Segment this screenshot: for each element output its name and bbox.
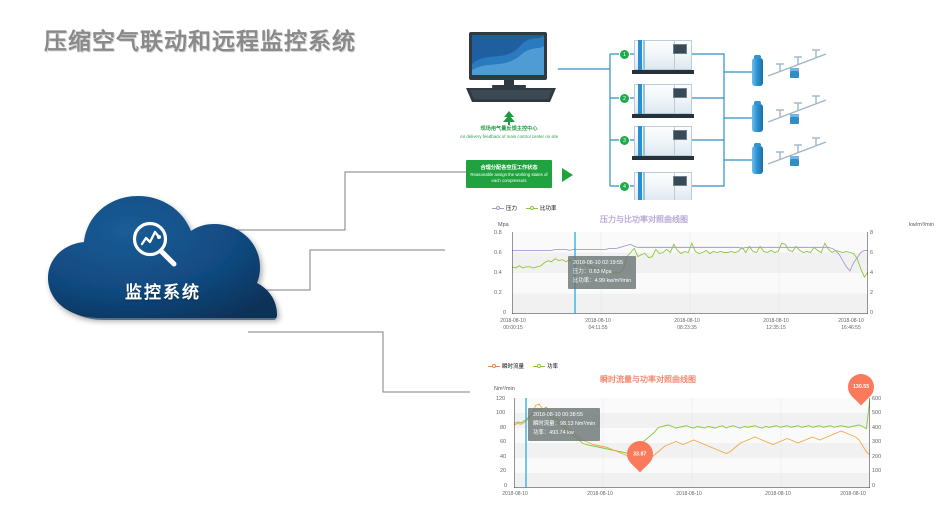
chart2-ytick: 80 [500,425,506,431]
xtick-time: 00:00:15 [490,325,536,332]
xtick-date: 2018-08-10 [577,491,623,498]
tooltip-timestamp: 2018-08-10 00:38:55 [533,411,595,420]
chart2-y2tick: 600 [872,396,881,402]
tooltip-row: 功率：493.74 kw [533,429,595,438]
magnifier-chart-icon [126,216,184,274]
chart1-y-unit: Mpa [498,222,509,228]
xtick-date: 2018-08-10 [575,318,621,325]
chart1-y2tick: 2 [870,290,873,296]
chart2-xtick: 2018-08-10 [492,491,538,498]
chart2-y2tick: 0 [872,483,875,489]
slide-root: 压缩空气联动和远程监控系统 [0,0,945,529]
air-tank [752,58,763,86]
chart1-plot[interactable] [512,232,868,314]
distribution-line [764,90,844,138]
xtick-date: 2018-08-10 [492,491,538,498]
legend-item-flow[interactable]: 瞬时流量 [488,362,524,370]
xtick-date: 2018-08-10 [830,491,876,498]
flow-power-chart[interactable]: 瞬时流量 功率 瞬时流量与功率对照曲线图 Nm³/min 120 100 80 … [470,358,940,529]
pressure-power-chart[interactable]: 压力 比功率 压力与比功率对照曲线图 Mpa kw/m³/min 0.8 0.6… [470,200,940,335]
air-tank [752,146,763,174]
compressor-unit [634,40,692,70]
legend-label: 比功率 [540,204,557,212]
status-node-3: 3 [620,136,629,145]
legend-marker [526,206,538,211]
compressor-unit [634,84,692,114]
chart1-xtick: 2018-08-10 00:00:15 [490,318,536,332]
xtick-time: 08:23:35 [664,325,710,332]
chart1-tooltip: 2018-08-10 02:19:55 压力：0.63 Mpa 比功率：4.99… [568,256,636,289]
compressor-unit [634,126,692,156]
chart2-xtick: 2018-08-10 [830,491,876,498]
status-node-1: 1 [620,50,629,59]
chart2-y2tick: 300 [872,439,881,445]
chart1-xtick: 2018-08-10 08:23:35 [664,318,710,332]
legend-marker [533,364,545,369]
chart1-ytick: 0.2 [494,290,502,296]
air-tank [752,104,763,132]
monitoring-cloud[interactable]: 监控系统 [38,190,288,330]
xtick-date: 2018-08-10 [664,318,710,325]
legend-label: 瞬时流量 [502,362,524,370]
xtick-time: 04:11:55 [575,325,621,332]
chart1-legend: 压力 比功率 [492,204,557,212]
distribution-line [764,132,844,180]
legend-item-power[interactable]: 功率 [533,362,558,370]
chart1-title: 压力与比功率对照曲线图 [600,214,688,225]
chart1-ytick: 0 [503,310,506,316]
xtick-date: 2018-08-10 [753,318,799,325]
legend-item-specific-power[interactable]: 比功率 [526,204,557,212]
chart2-xtick: 2018-08-10 [666,491,712,498]
chart2-y2tick: 400 [872,425,881,431]
chart1-y2tick: 4 [870,270,873,276]
legend-item-pressure[interactable]: 压力 [492,204,517,212]
chart2-y-unit: Nm³/min [494,386,515,392]
chart2-title: 瞬时流量与功率对照曲线图 [600,374,696,385]
chart2-y2tick: 100 [872,468,881,474]
tooltip-row: 压力：0.63 Mpa [573,268,631,277]
chart1-ytick: 0.6 [494,250,502,256]
chart1-y2tick: 8 [870,230,873,236]
legend-marker [488,364,500,369]
chart2-y2tick: 200 [872,454,881,460]
chart1-ytick: 0.4 [494,270,502,276]
chart2-legend: 瞬时流量 功率 [488,362,558,370]
tooltip-row: 比功率：4.99 kw/m³/min [573,277,631,286]
chart2-xtick: 2018-08-10 [577,491,623,498]
legend-label: 压力 [506,204,517,212]
legend-marker [492,206,504,211]
distribution-line [764,44,844,92]
xtick-date: 2018-08-10 [828,318,874,325]
chart2-y2tick: 500 [872,410,881,416]
chart2-xtick: 2018-08-10 [755,491,801,498]
chart2-ytick: 0 [504,483,507,489]
xtick-time: 16:46:55 [828,325,874,332]
chart2-ytick: 40 [500,454,506,460]
chart1-xtick: 2018-08-10 04:11:55 [575,318,621,332]
xtick-time: 12:35:15 [753,325,799,332]
tooltip-row: 瞬时流量：98.13 Nm³/min [533,420,595,429]
chart2-ytick: 120 [496,396,505,402]
chart1-xtick: 2018-08-10 16:46:55 [828,318,874,332]
chart2-ytick: 100 [496,410,505,416]
compressor-unit [634,172,692,202]
chart2-ytick: 20 [500,468,506,474]
chart1-y2tick: 0 [870,310,873,316]
chart2-ytick: 60 [500,439,506,445]
system-topology-diagram: 现场用气量反馈主控中心 Air delivery feedback of mai… [438,14,938,204]
xtick-date: 2018-08-10 [666,491,712,498]
chart1-y2-unit: kw/m³/min [909,222,934,228]
chart1-xtick: 2018-08-10 12:35:15 [753,318,799,332]
marker-label: 130.55 [853,384,869,390]
xtick-date: 2018-08-10 [755,491,801,498]
chart1-y2tick: 6 [870,250,873,256]
chart1-ytick: 0.8 [494,230,502,236]
xtick-date: 2018-08-10 [490,318,536,325]
marker-label: 33.87 [633,451,646,457]
chart2-tooltip: 2018-08-10 00:38:55 瞬时流量：98.13 Nm³/min 功… [528,408,600,441]
status-node-4: 4 [620,182,629,191]
status-node-2: 2 [620,94,629,103]
page-title: 压缩空气联动和远程监控系统 [44,22,356,56]
tooltip-timestamp: 2018-08-10 02:19:55 [573,259,631,268]
legend-label: 功率 [547,362,558,370]
